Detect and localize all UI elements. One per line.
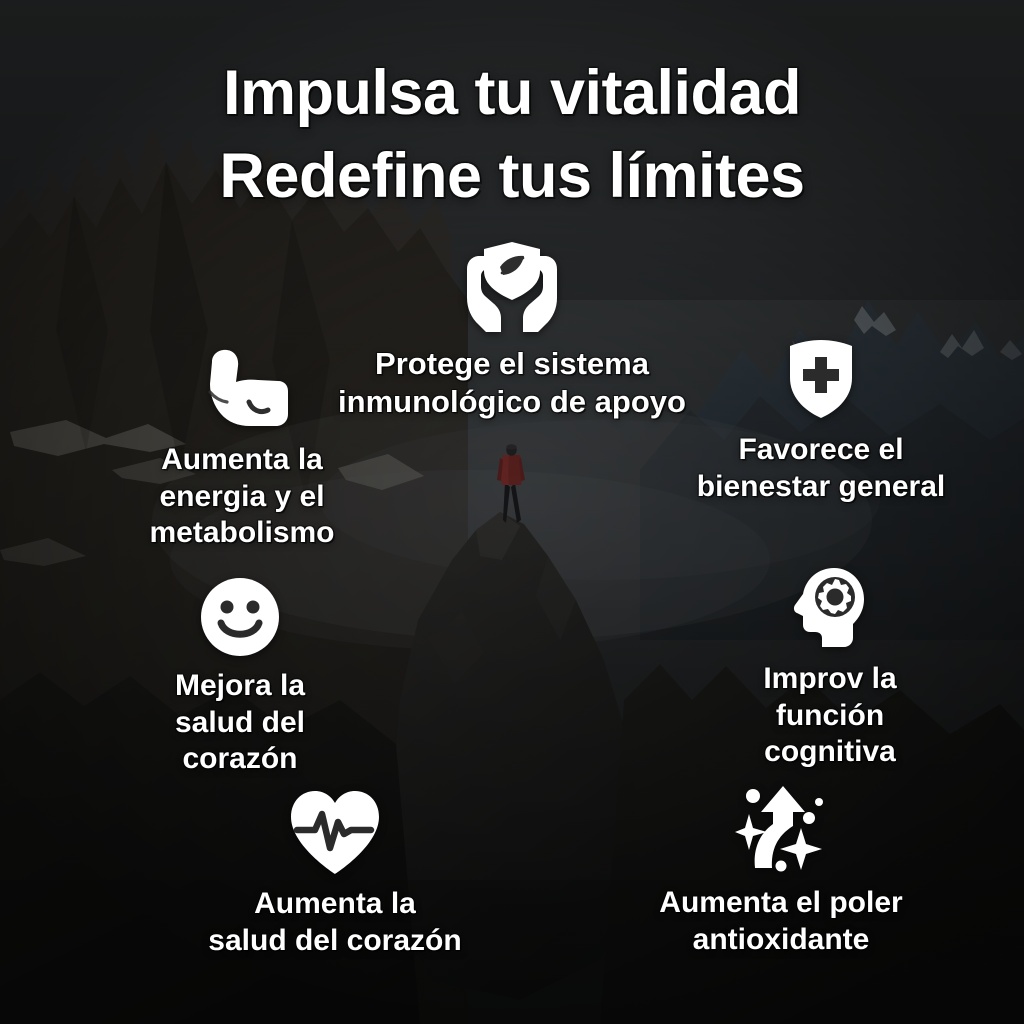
benefit-label: Favorece el bienestar general	[648, 432, 994, 505]
hands-holding-shield-icon	[282, 236, 742, 336]
benefit-label: Mejora la salud del corazón	[90, 668, 390, 778]
poster-content: Impulsa tu vitalidad Redefine tus límite…	[0, 0, 1024, 1024]
heart-pulse-icon	[155, 788, 515, 876]
benefit-label: Aumenta la energia y el metabolismo	[92, 442, 392, 552]
benefit-label: Aumenta la salud del corazón	[155, 886, 515, 959]
benefit-mood: Mejora la salud del corazón	[90, 576, 390, 778]
sparkle-arrow-up-icon	[598, 784, 964, 872]
benefit-wellness: Favorece el bienestar general	[648, 338, 994, 505]
benefit-label: Aumenta el poler antioxidante	[598, 885, 964, 958]
head-gear-icon	[680, 566, 980, 650]
benefit-cognitive: Improv la función cognitiva	[680, 566, 980, 771]
benefit-label: Improv la función cognitiva	[680, 661, 980, 771]
page-title: Impulsa tu vitalidad Redefine tus límite…	[0, 52, 1024, 218]
benefit-heart: Aumenta la salud del corazón	[155, 788, 515, 959]
flexed-bicep-icon	[92, 348, 392, 434]
shield-plus-icon	[648, 338, 994, 420]
benefit-energy: Aumenta la energia y el metabolismo	[92, 348, 392, 552]
benefit-antioxidant: Aumenta el poler antioxidante	[598, 784, 964, 958]
smiley-face-icon	[90, 576, 390, 658]
